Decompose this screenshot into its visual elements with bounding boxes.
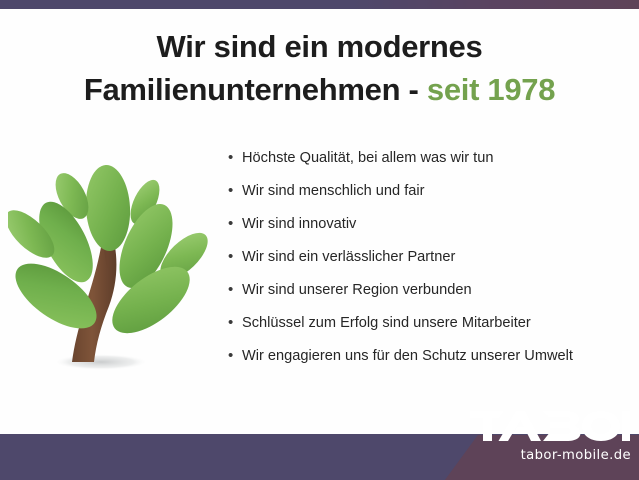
headline-line-1: Wir sind ein modernes (157, 29, 483, 64)
bullet-dot-icon: • (228, 150, 242, 165)
list-item-label: Wir sind innovativ (242, 217, 638, 232)
tabor-logo-wordmark (470, 411, 630, 441)
bullet-dot-icon: • (228, 249, 242, 264)
letter-O (582, 411, 620, 441)
bullet-dot-icon: • (228, 282, 242, 297)
bullet-dot-icon: • (228, 183, 242, 198)
slide-canvas: Wir sind ein modernes Familienunternehme… (0, 0, 639, 480)
top-accent-band (0, 0, 639, 9)
list-item: • Höchste Qualität, bei allem was wir tu… (228, 150, 638, 183)
bullet-dot-icon: • (228, 315, 242, 330)
list-item: • Wir sind unserer Region verbunden (228, 282, 638, 315)
tree-shadow (54, 354, 148, 370)
letter-R (622, 411, 630, 441)
list-item-label: Wir sind ein verlässlicher Partner (242, 250, 638, 265)
letter-B (543, 411, 581, 441)
list-item: • Wir sind ein verlässlicher Partner (228, 249, 638, 282)
value-bullet-list: • Höchste Qualität, bei allem was wir tu… (228, 150, 638, 381)
list-item-label: Wir sind unserer Region verbunden (242, 283, 638, 298)
headline-line-2-main: Familienunternehmen - (84, 72, 427, 107)
tree-illustration (8, 150, 213, 390)
list-item-label: Schlüssel zum Erfolg sind unsere Mitarbe… (242, 316, 638, 331)
list-item: • Schlüssel zum Erfolg sind unsere Mitar… (228, 315, 638, 348)
bullet-dot-icon: • (228, 216, 242, 231)
list-item-label: Wir sind menschlich und fair (242, 184, 638, 199)
tabor-letters (470, 411, 630, 441)
list-item: • Wir engagieren uns für den Schutz unse… (228, 348, 638, 381)
headline-accent-year: seit 1978 (427, 72, 555, 107)
list-item: • Wir sind menschlich und fair (228, 183, 638, 216)
page-title: Wir sind ein modernes Familienunternehme… (0, 26, 639, 112)
letter-A (499, 411, 542, 441)
letter-T (470, 411, 504, 441)
list-item-label: Wir engagieren uns für den Schutz unsere… (242, 349, 638, 364)
logo-domain-text: tabor-mobile.de (437, 448, 631, 463)
leaf-top-center (84, 164, 132, 252)
list-item-label: Höchste Qualität, bei allem was wir tun (242, 151, 638, 166)
list-item: • Wir sind innovativ (228, 216, 638, 249)
bullet-dot-icon: • (228, 348, 242, 363)
